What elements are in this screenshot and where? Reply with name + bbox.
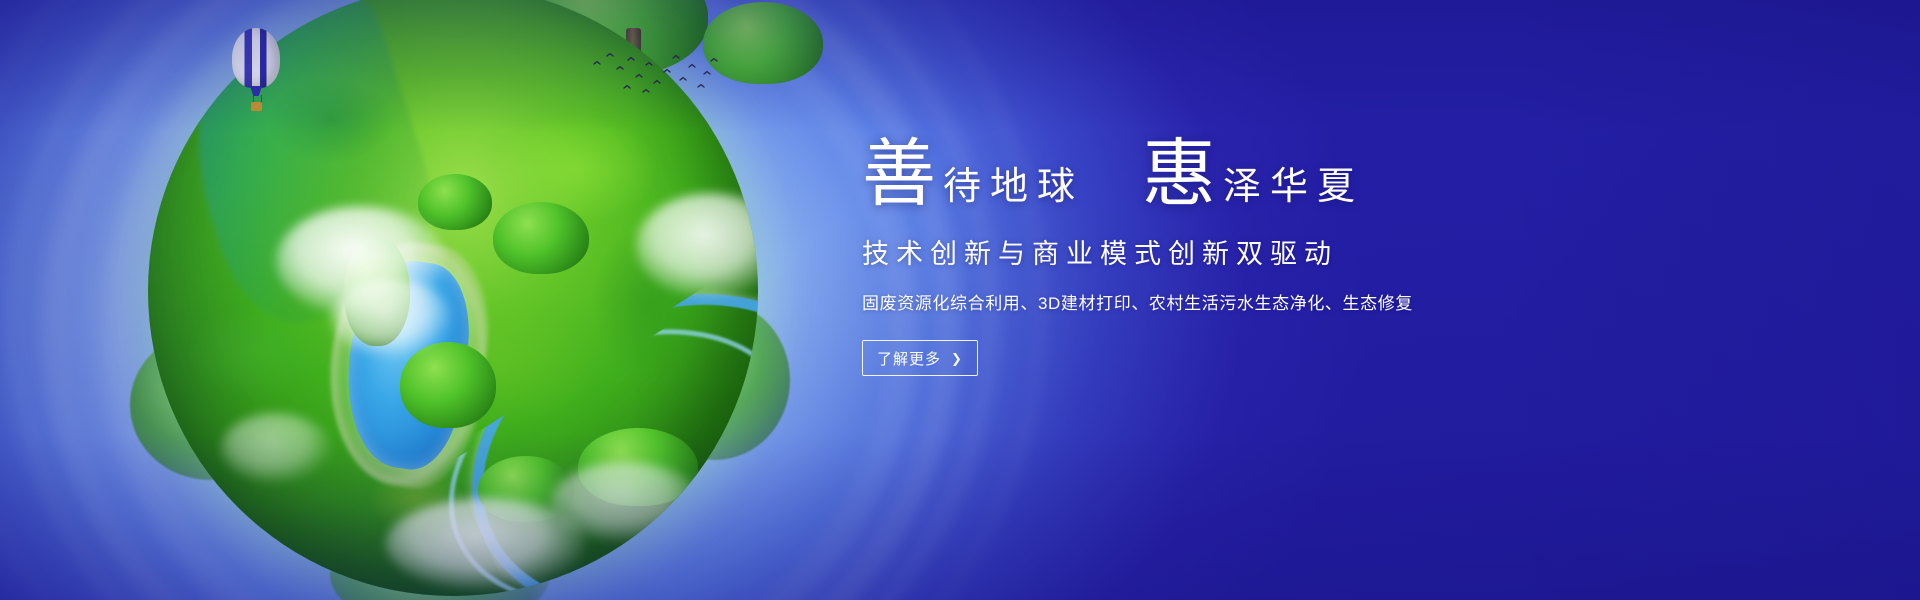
headline-segment-1-large: 善 <box>862 132 937 218</box>
headline-segment-1-small: 待地球 <box>943 144 1084 230</box>
learn-more-button[interactable]: 了解更多 ❯ <box>862 340 978 376</box>
hero-copy-block: 善待地球惠泽华夏 技术创新与商业模式创新双驱动 固废资源化综合利用、3D建材打印… <box>862 132 1522 376</box>
learn-more-label: 了解更多 <box>877 348 941 369</box>
hero-banner: 善待地球惠泽华夏 技术创新与商业模式创新双驱动 固废资源化综合利用、3D建材打印… <box>0 0 1920 600</box>
subtitle: 技术创新与商业模式创新双驱动 <box>862 232 1522 271</box>
headline-segment-2-small: 泽华夏 <box>1223 144 1364 230</box>
headline: 善待地球惠泽华夏 <box>862 132 1522 218</box>
headline-segment-2-large: 惠 <box>1142 132 1217 218</box>
chevron-right-icon: ❯ <box>951 352 963 365</box>
description-text: 固废资源化综合利用、3D建材打印、农村生活污水生态净化、生态修复 <box>862 289 1522 314</box>
